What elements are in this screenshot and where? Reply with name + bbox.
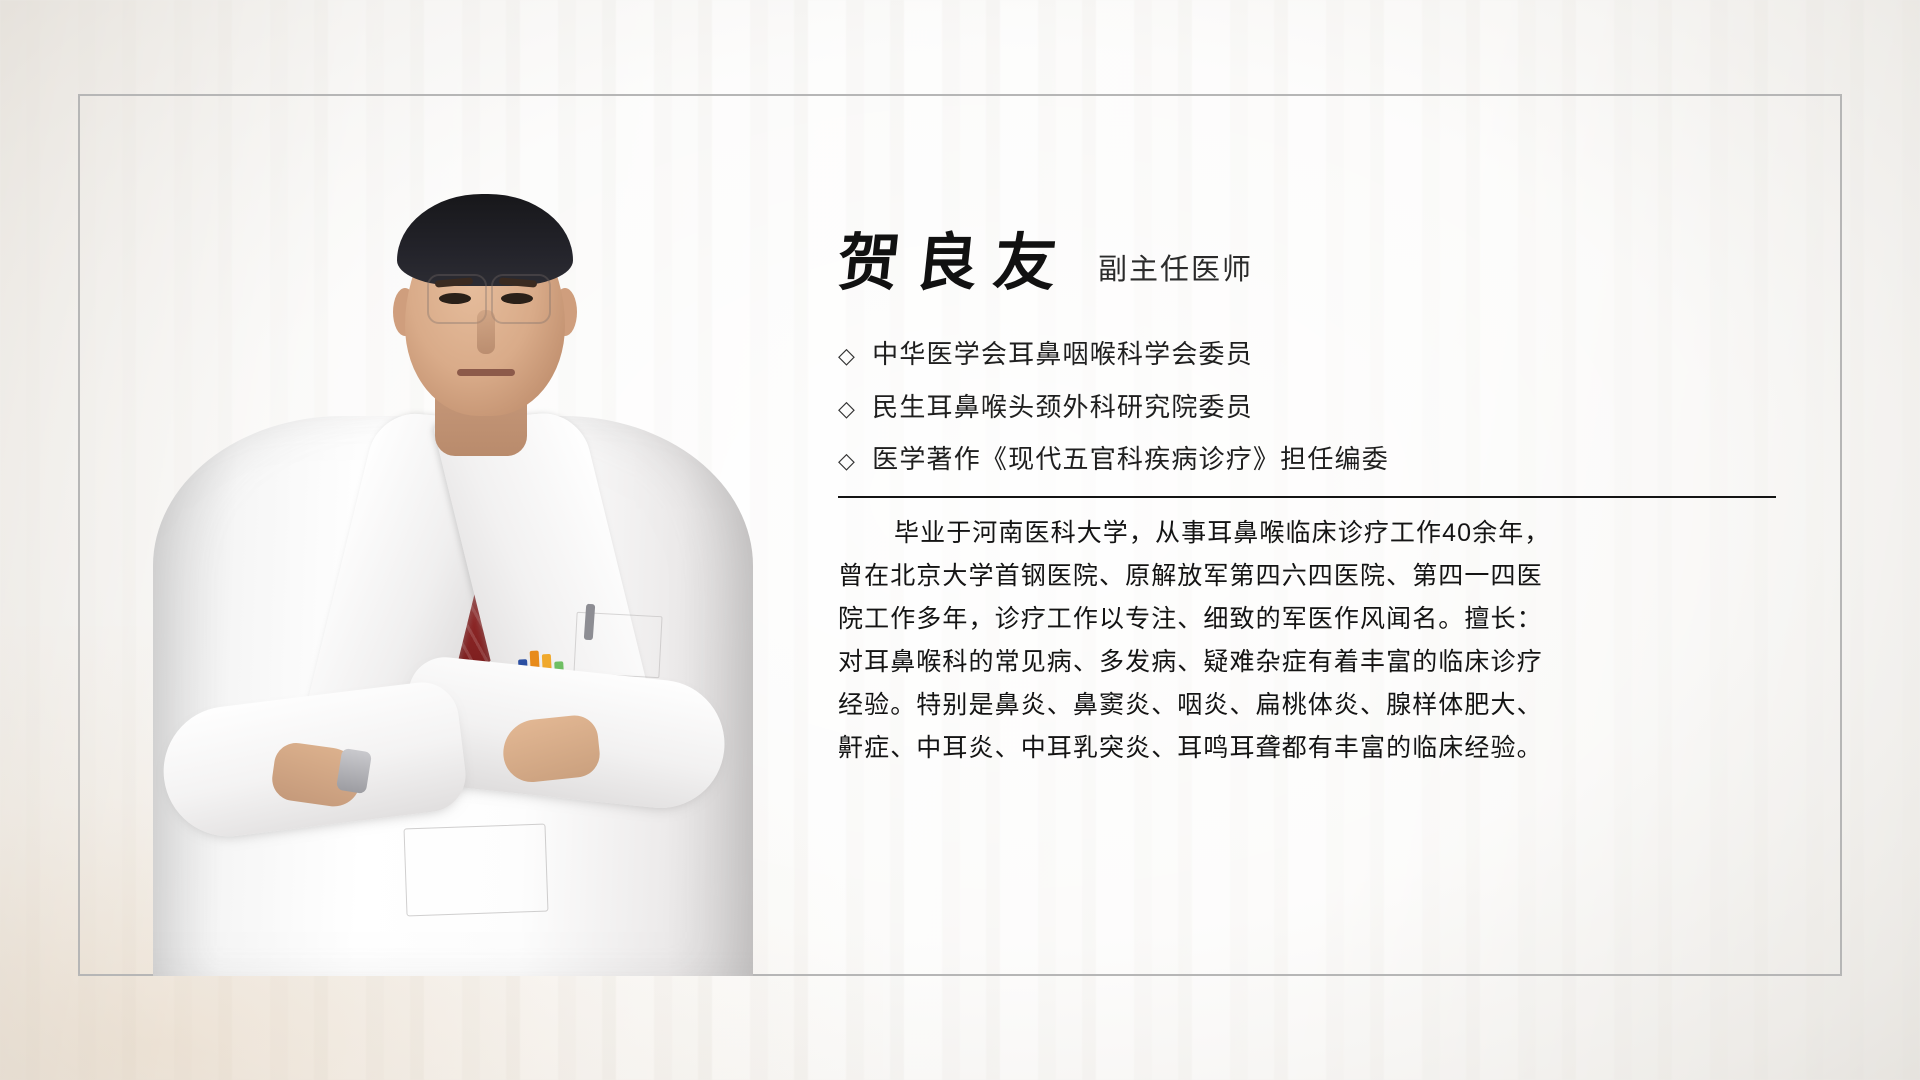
bio-line: 鼾症、中耳炎、中耳乳突炎、耳鸣耳聋都有丰富的临床经验。 [838, 727, 1778, 770]
eyeglass-lens-right [491, 274, 551, 324]
bio-line: 经验。特别是鼻炎、鼻窦炎、咽炎、扁桃体炎、腺样体肥大、 [838, 684, 1778, 727]
doctor-title: 副主任医师 [1098, 246, 1253, 294]
credential-item: ◇ 民生耳鼻喉头颈外科研究院委员 [838, 391, 1778, 424]
hair [397, 194, 573, 286]
credential-item: ◇ 医学著作《现代五官科疾病诊疗》担任编委 [838, 443, 1778, 476]
bio-line: 院工作多年，诊疗工作以专注、细致的军医作风闻名。擅长： [838, 598, 1778, 641]
mouth [457, 369, 515, 376]
credential-text: 中华医学会耳鼻咽喉科学会委员 [872, 338, 1253, 371]
nose [477, 310, 495, 354]
doctor-portrait-photo: 郑州民生耳鼻喉医院 [105, 126, 785, 976]
credential-list: ◇ 中华医学会耳鼻咽喉科学会委员 ◇ 民生耳鼻喉头颈外科研究院委员 ◇ 医学著作… [838, 338, 1778, 476]
doctor-info-panel: 贺良友 副主任医师 ◇ 中华医学会耳鼻咽喉科学会委员 ◇ 民生耳鼻喉头颈外科研究… [838, 232, 1778, 770]
credential-text: 医学著作《现代五官科疾病诊疗》担任编委 [872, 443, 1389, 476]
bio-line: 毕业于河南医科大学，从事耳鼻喉临床诊疗工作40余年， [838, 512, 1778, 555]
bio-line: 曾在北京大学首钢医院、原解放军第四六四医院、第四一四医 [838, 555, 1778, 598]
doctor-name: 贺良友 [835, 232, 1076, 294]
credential-item: ◇ 中华医学会耳鼻咽喉科学会委员 [838, 338, 1778, 371]
section-divider [838, 496, 1776, 498]
doctor-name-row: 贺良友 副主任医师 [838, 232, 1778, 294]
diamond-bullet-icon: ◇ [838, 345, 856, 367]
coat-side-pocket [404, 824, 549, 917]
credential-text: 民生耳鼻喉头颈外科研究院委员 [872, 391, 1253, 424]
diamond-bullet-icon: ◇ [838, 398, 856, 420]
bio-line: 对耳鼻喉科的常见病、多发病、疑难杂症有着丰富的临床诊疗 [838, 641, 1778, 684]
doctor-biography: 毕业于河南医科大学，从事耳鼻喉临床诊疗工作40余年， 曾在北京大学首钢医院、原解… [838, 512, 1778, 770]
diamond-bullet-icon: ◇ [838, 450, 856, 472]
